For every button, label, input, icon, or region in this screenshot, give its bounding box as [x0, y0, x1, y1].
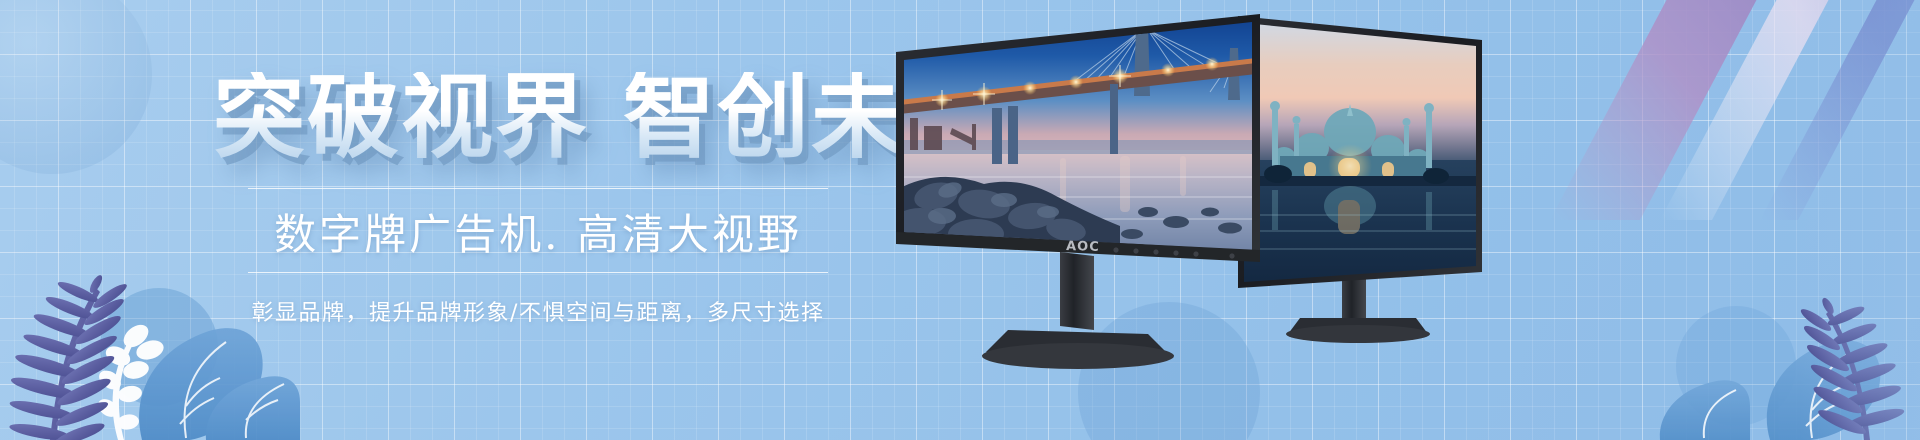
aoc-logo: AOC	[1066, 239, 1100, 255]
subtitle-block: 数字牌广告机. 高清大视野 彰显品牌，提升品牌形象/不惧空间与距离，多尺寸选择	[248, 188, 828, 327]
promo-banner: 突破视界 智创未来 数字牌广告机. 高清大视野 彰显品牌，提升品牌形象/不惧空间…	[0, 0, 1920, 440]
rear-monitor	[1238, 16, 1482, 343]
right-edge-fade	[1800, 0, 1920, 440]
fern-leaf-bottom-left	[0, 180, 300, 440]
blue-leaves-bottom-left	[139, 328, 300, 440]
front-monitor: AOC	[894, 14, 1260, 369]
subtitle: 数字牌广告机. 高清大视野	[248, 189, 828, 272]
tagline: 彰显品牌，提升品牌形象/不惧空间与距离，多尺寸选择	[248, 273, 828, 327]
